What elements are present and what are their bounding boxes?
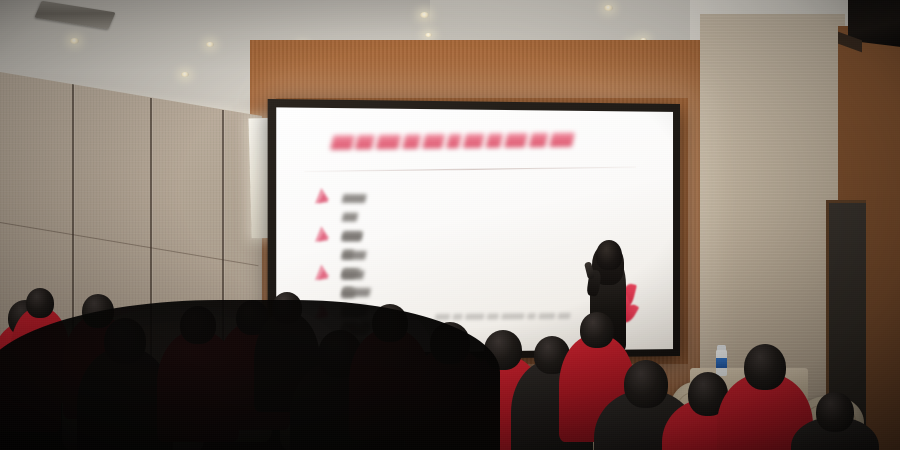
audience-member-13-head — [580, 312, 614, 348]
downlight-8 — [425, 33, 432, 37]
title-stroke-10 — [529, 133, 549, 147]
downlight-7 — [420, 12, 429, 18]
triangle-marker — [313, 189, 334, 208]
conference-room-photo — [0, 0, 900, 450]
title-stroke-8 — [486, 133, 504, 147]
slide-bullet-list — [276, 107, 673, 112]
title-stroke-7 — [463, 134, 485, 149]
triangle-marker — [313, 227, 334, 246]
downlight-1 — [70, 38, 79, 44]
title-stroke-5 — [422, 134, 445, 149]
slide-title-blurred — [332, 133, 574, 151]
downlight-4 — [181, 72, 189, 77]
foreground-shadow-mass — [0, 300, 500, 450]
title-stroke-1 — [330, 135, 355, 150]
audience-member-17-head — [816, 392, 854, 432]
audience-member-2-head — [26, 288, 54, 318]
audience-member-14-head — [624, 360, 668, 408]
title-stroke-3 — [376, 135, 401, 150]
title-stroke-9 — [504, 133, 528, 148]
slide-divider-rule — [304, 167, 636, 172]
title-stroke-6 — [446, 134, 462, 149]
title-stroke-2 — [355, 135, 375, 150]
downlight-10 — [604, 5, 613, 11]
downlight-2 — [206, 42, 214, 47]
title-stroke-4 — [402, 134, 421, 149]
audience-member-16-head — [744, 344, 786, 390]
title-stroke-11 — [549, 133, 575, 147]
